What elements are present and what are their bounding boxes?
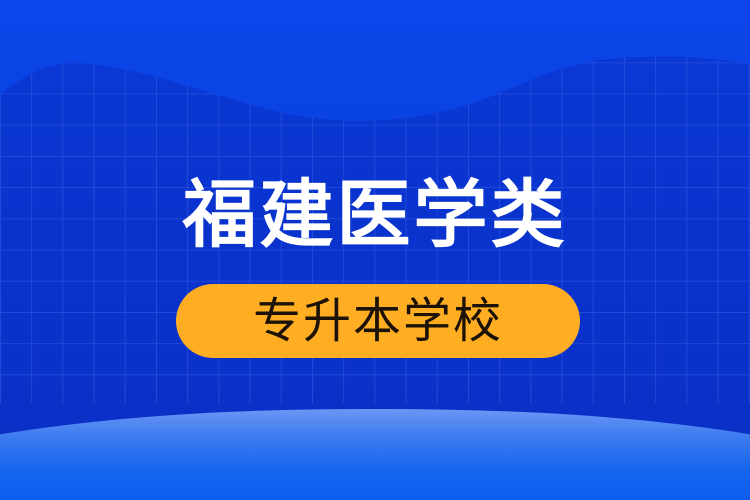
category-pill[interactable]: 专升本学校: [176, 284, 580, 358]
promo-banner: 福建医学类 专升本学校: [0, 0, 750, 500]
banner-content: 福建医学类 专升本学校: [0, 0, 750, 500]
banner-headline: 福建医学类: [0, 171, 750, 259]
category-pill-label: 专升本学校: [253, 295, 503, 347]
